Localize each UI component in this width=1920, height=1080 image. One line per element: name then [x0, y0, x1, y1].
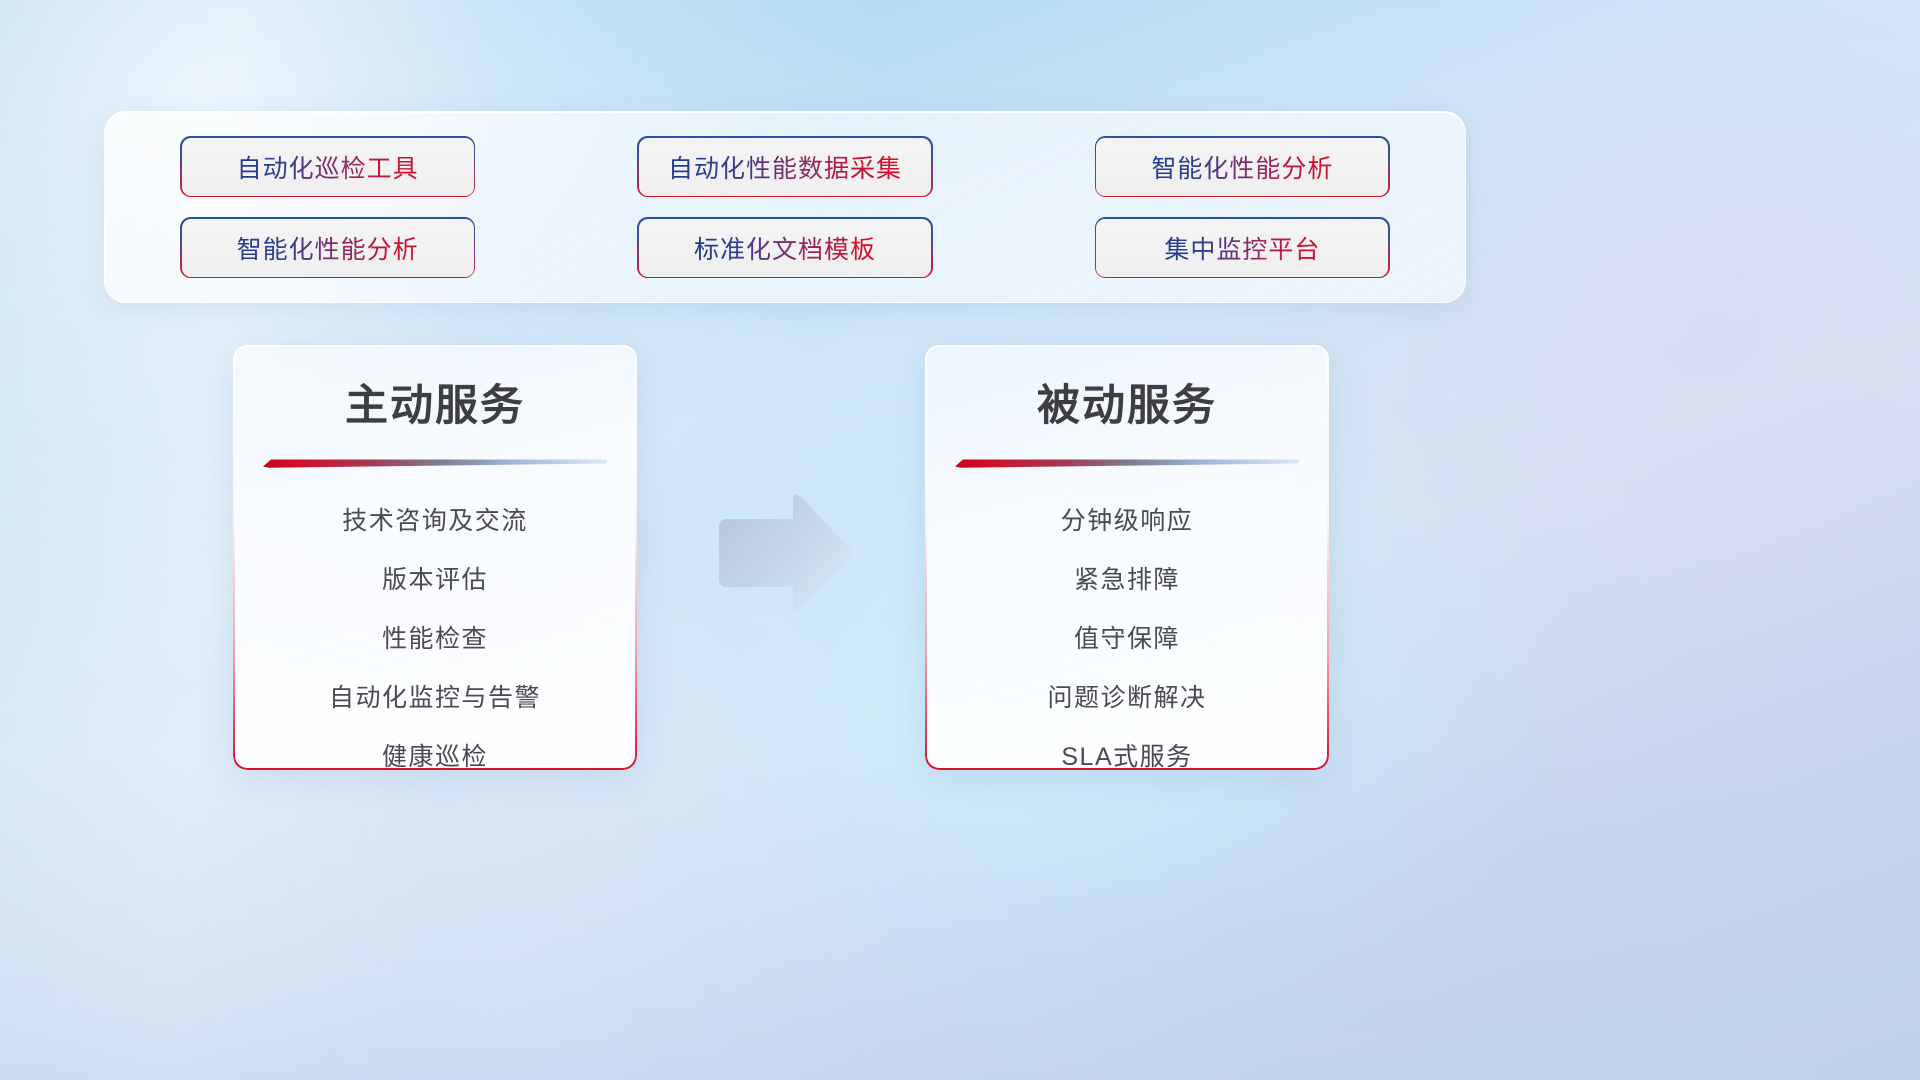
- card-list-item: 自动化监控与告警: [329, 669, 541, 728]
- card-item-list: 技术咨询及交流 版本评估 性能检查 自动化监控与告警 健康巡检: [233, 492, 637, 770]
- card-item-list: 分钟级响应 紧急排障 值守保障 问题诊断解决 SLA式服务: [925, 492, 1329, 770]
- capability-tag[interactable]: 自动化性能数据采集: [639, 138, 931, 196]
- card-title: 主动服务: [233, 371, 637, 433]
- service-card-passive: 被动服务 分钟级响应 紧急排障 值守保障 问题诊断解决 SLA式服务: [925, 345, 1329, 770]
- background-bottom-wash: [0, 750, 1920, 1080]
- card-list-item: SLA式服务: [1061, 728, 1192, 770]
- capability-tag[interactable]: 智能化性能分析: [182, 219, 474, 277]
- capability-tag-label: 智能化性能分析: [237, 230, 419, 266]
- card-list-item: 版本评估: [382, 551, 488, 610]
- right-arrow-icon: [715, 493, 855, 613]
- capability-tag[interactable]: 智能化性能分析: [1096, 138, 1388, 196]
- capability-tag-label: 集中监控平台: [1164, 230, 1320, 266]
- card-title: 被动服务: [925, 371, 1329, 433]
- card-list-item: 紧急排障: [1074, 551, 1180, 610]
- capability-tag-label: 标准化文档模板: [694, 230, 876, 266]
- capability-tags-panel: 自动化巡检工具 自动化性能数据采集 智能化性能分析 智能化性能分析 标准化文档模…: [104, 111, 1466, 303]
- capability-tag-label: 自动化巡检工具: [237, 149, 419, 185]
- card-list-item: 性能检查: [382, 610, 488, 669]
- card-list-item: 健康巡检: [382, 728, 488, 770]
- capability-tag[interactable]: 自动化巡检工具: [182, 138, 474, 196]
- card-title-divider: [955, 455, 1299, 468]
- card-list-item: 分钟级响应: [1061, 492, 1194, 551]
- capability-tag-label: 自动化性能数据采集: [668, 149, 902, 185]
- capability-tag[interactable]: 标准化文档模板: [639, 219, 931, 277]
- card-list-item: 问题诊断解决: [1047, 669, 1206, 728]
- card-title-divider: [263, 455, 607, 468]
- capability-tag[interactable]: 集中监控平台: [1096, 219, 1388, 277]
- card-list-item: 值守保障: [1074, 610, 1180, 669]
- card-list-item: 技术咨询及交流: [342, 492, 528, 551]
- service-card-active: 主动服务 技术咨询及交流 版本评估 性能检查 自动化监控与告警 健康巡检: [233, 345, 637, 770]
- capability-tag-grid: 自动化巡检工具 自动化性能数据采集 智能化性能分析 智能化性能分析 标准化文档模…: [179, 138, 1391, 276]
- capability-tag-label: 智能化性能分析: [1151, 149, 1333, 185]
